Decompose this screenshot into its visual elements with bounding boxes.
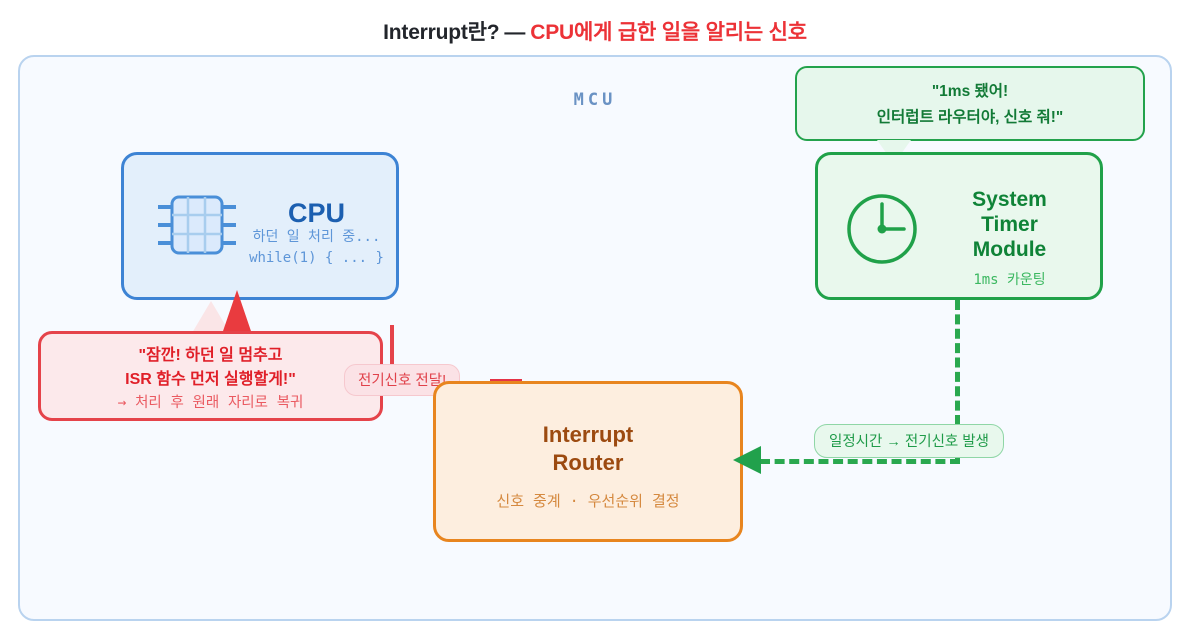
cpu-text-block: CPU 하던 일 처리 중... while(1) { ... } (234, 199, 399, 268)
cpu-status-line: 하던 일 처리 중... (234, 227, 399, 247)
timer-signal-path-vertical (955, 300, 960, 425)
clock-icon (840, 187, 924, 271)
timer-title: System Timer Module (922, 188, 1097, 262)
page-title-dash: — (499, 21, 530, 44)
timer-subtitle: 1ms 카운팅 (922, 269, 1097, 289)
isr-bubble-line-1: "잠깐! 하던 일 멈추고 (41, 344, 380, 368)
timer-bubble-line-1: "1ms 됐어! (797, 79, 1143, 105)
cpu-chip-icon (150, 183, 242, 275)
timer-title-line-1: System (922, 188, 1097, 213)
timer-title-line-3: Module (922, 238, 1097, 263)
router-title-line-1: Interrupt (436, 421, 740, 449)
page-title: Interrupt란?—CPU에게 급한 일을 알리는 신호 (0, 16, 1190, 46)
timer-text-block: System Timer Module 1ms 카운팅 (922, 188, 1097, 289)
isr-bubble-note: → 처리 후 원래 자리로 복귀 (41, 392, 380, 414)
page-title-accent: CPU에게 급한 일을 알리는 신호 (530, 21, 807, 44)
interrupt-signal-arrow-icon (221, 290, 253, 337)
system-timer-module-block[interactable]: System Timer Module 1ms 카운팅 (815, 152, 1103, 300)
router-title: Interrupt Router (436, 421, 740, 476)
router-subtitle: 신호 중계 · 우선순위 결정 (436, 490, 740, 511)
timer-bubble-line-2: 인터럽트 라우터야, 신호 줘!" (797, 105, 1143, 131)
cpu-code-line: while(1) { ... } (234, 248, 399, 268)
router-title-line-2: Router (436, 449, 740, 477)
isr-bubble-line-2: ISR 함수 먼저 실행할게!" (41, 368, 380, 392)
timer-signal-label: 일정시간 → 전기신호 발생 (814, 424, 1004, 458)
isr-speech-bubble: "잠깐! 하던 일 멈추고 ISR 함수 먼저 실행할게!" → 처리 후 원래… (38, 331, 383, 421)
timer-speech-bubble: "1ms 됐어! 인터럽트 라우터야, 신호 줘!" (795, 66, 1145, 141)
timer-signal-path-horizontal (760, 459, 960, 464)
cpu-title: CPU (234, 199, 399, 227)
cpu-block[interactable]: CPU 하던 일 처리 중... while(1) { ... } (121, 152, 399, 300)
interrupt-router-block[interactable]: Interrupt Router 신호 중계 · 우선순위 결정 (433, 381, 743, 542)
page-title-main: Interrupt란? (383, 21, 499, 44)
timer-signal-arrowhead-icon (733, 446, 761, 474)
timer-title-line-2: Timer (922, 213, 1097, 238)
